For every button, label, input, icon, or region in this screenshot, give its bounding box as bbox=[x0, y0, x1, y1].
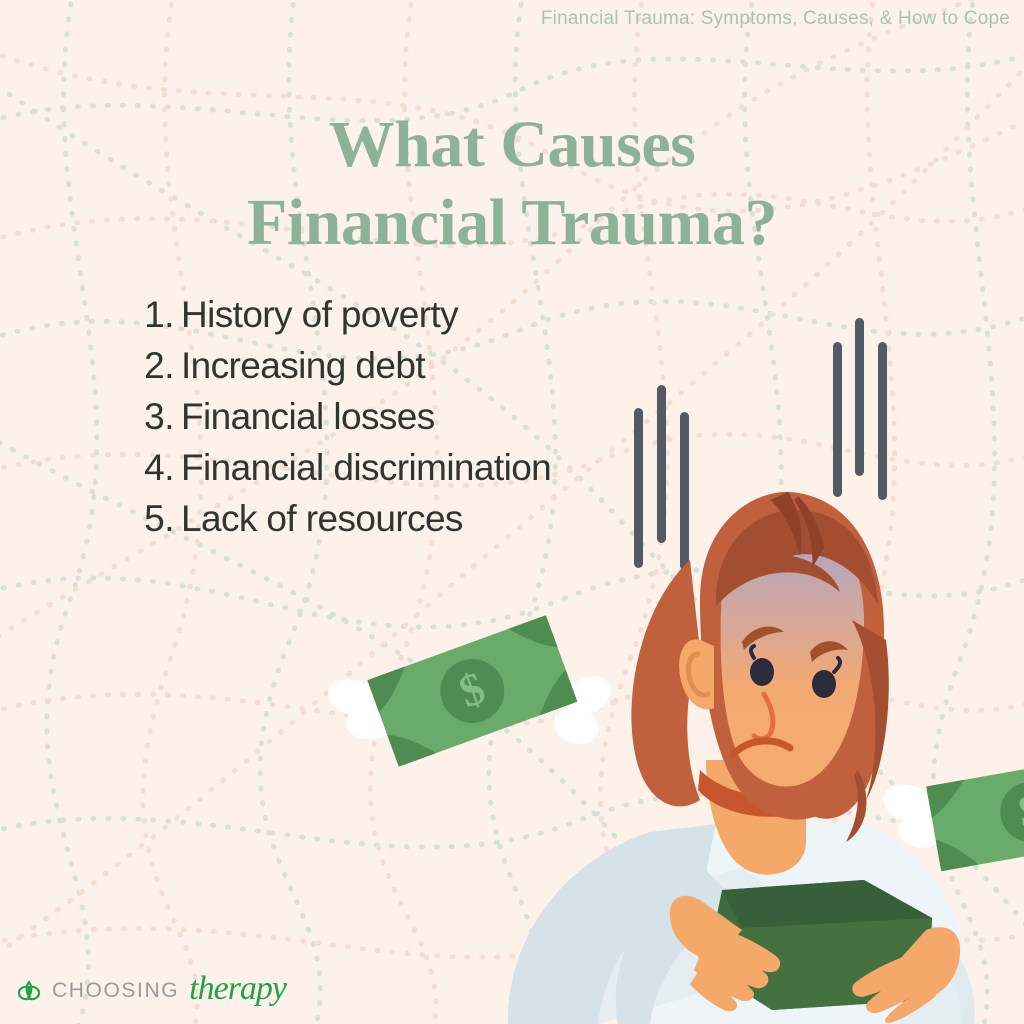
woman-face bbox=[721, 526, 865, 787]
brand-logo[interactable]: CHOOSING therapy bbox=[14, 972, 286, 1010]
woman-ear bbox=[679, 639, 714, 709]
list-item: 3. Financial losses bbox=[128, 396, 688, 438]
money-bill-right bbox=[926, 755, 1024, 871]
leaf-icon bbox=[14, 976, 44, 1006]
hand-right bbox=[852, 927, 960, 1023]
money-stack bbox=[706, 880, 932, 1010]
woman-collar bbox=[698, 770, 824, 817]
page-title-line-1: What Causes bbox=[0, 106, 1024, 184]
infographic-canvas: $ $ bbox=[0, 0, 1024, 1024]
woman-shirt bbox=[508, 822, 975, 1024]
list-item-label: Financial losses bbox=[174, 396, 435, 438]
list-item: 4. Financial discrimination bbox=[128, 447, 688, 489]
money-bill-left bbox=[367, 615, 577, 766]
woman-character bbox=[508, 492, 975, 1024]
money-symbol-left: $ bbox=[452, 662, 491, 718]
page-header-title: Financial Trauma: Symptoms, Causes, & Ho… bbox=[541, 8, 1010, 30]
flying-money-left: $ bbox=[325, 594, 626, 820]
list-item-number: 4. bbox=[128, 447, 174, 489]
list-item-number: 5. bbox=[128, 498, 174, 540]
list-item-label: Increasing debt bbox=[174, 345, 425, 387]
list-item-number: 2. bbox=[128, 345, 174, 387]
list-item-label: Lack of resources bbox=[174, 498, 463, 540]
causes-list: 1. History of poverty 2. Increasing debt… bbox=[128, 294, 688, 549]
woman-hands bbox=[670, 896, 960, 1023]
woman-nose bbox=[754, 694, 773, 739]
page-title-line-2: Financial Trauma? bbox=[0, 184, 1024, 262]
woman-mouth bbox=[734, 741, 790, 754]
money-wings-right bbox=[542, 671, 625, 752]
list-item: 2. Increasing debt bbox=[128, 345, 688, 387]
flying-money-right: $ bbox=[881, 749, 1024, 879]
woman-hair-back bbox=[631, 560, 700, 806]
woman-neck bbox=[706, 760, 806, 875]
money-symbol-right: $ bbox=[1015, 784, 1024, 836]
woman-bangs bbox=[716, 510, 878, 606]
money-wings-right-2 bbox=[881, 778, 948, 853]
list-item-label: History of poverty bbox=[174, 294, 458, 336]
woman-arms bbox=[616, 870, 962, 1024]
money-wings-left bbox=[325, 666, 402, 749]
list-item-number: 1. bbox=[128, 294, 174, 336]
list-item: 1. History of poverty bbox=[128, 294, 688, 336]
woman-eyebrow-left bbox=[742, 627, 784, 650]
woman-eyebrow-right bbox=[810, 641, 848, 662]
list-item: 5. Lack of resources bbox=[128, 498, 688, 540]
woman-eye-left bbox=[750, 658, 774, 686]
list-item-number: 3. bbox=[128, 396, 174, 438]
woman-hair bbox=[700, 492, 884, 820]
hand-left bbox=[670, 896, 780, 1012]
logo-wordmark: CHOOSING bbox=[52, 979, 179, 1003]
list-item-label: Financial discrimination bbox=[174, 447, 551, 489]
woman-eye-right bbox=[812, 670, 836, 698]
stress-lines-right bbox=[833, 318, 887, 500]
page-title: What Causes Financial Trauma? bbox=[0, 106, 1024, 262]
logo-scriptmark: therapy bbox=[189, 970, 286, 1008]
